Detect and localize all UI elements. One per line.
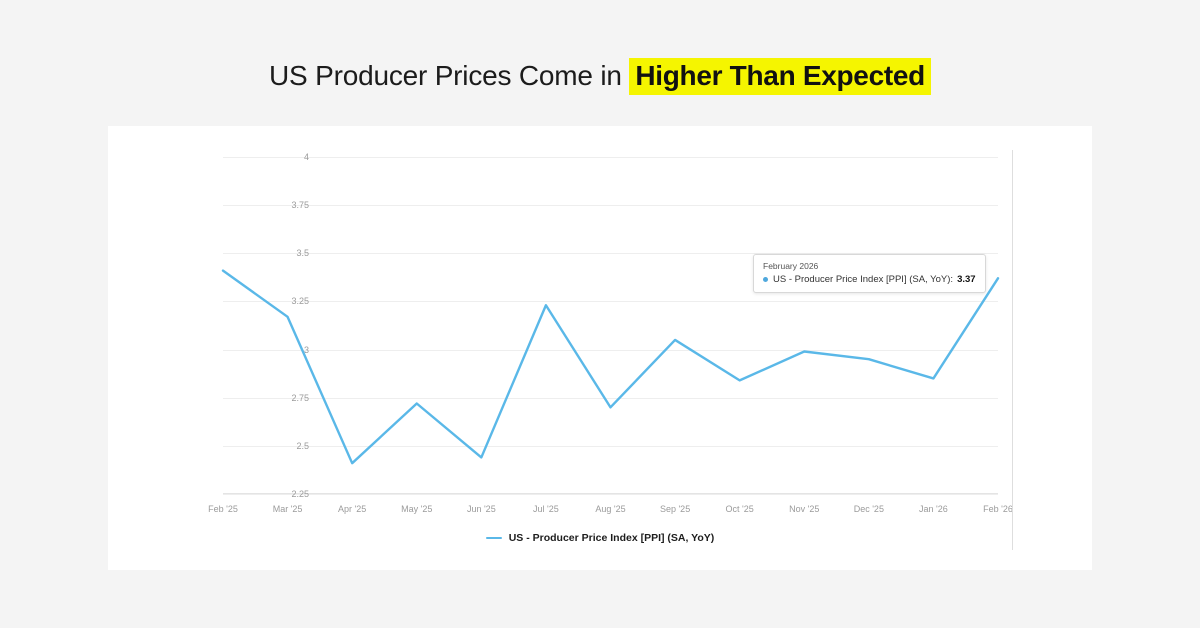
x-axis-tick-label: Dec '25 (854, 504, 884, 514)
page-title-plain: US Producer Prices Come in (269, 60, 629, 91)
y-axis-tick-label: 4 (249, 152, 309, 162)
legend-item-label: US - Producer Price Index [PPI] (SA, YoY… (509, 532, 715, 544)
y-axis-tick-label: 2.75 (249, 393, 309, 403)
x-axis-tick-label: Jul '25 (533, 504, 559, 514)
x-axis-tick-label: Sep '25 (660, 504, 690, 514)
x-axis-tick-label: Apr '25 (338, 504, 366, 514)
x-axis-tick-label: Nov '25 (789, 504, 819, 514)
page-root: US Producer Prices Come in Higher Than E… (0, 0, 1200, 628)
legend-swatch-icon (486, 537, 502, 539)
x-axis-tick-label: Oct '25 (726, 504, 754, 514)
y-axis-tick-label: 2.5 (249, 441, 309, 451)
crosshair-line (1012, 150, 1013, 550)
chart-legend: US - Producer Price Index [PPI] (SA, YoY… (108, 532, 1092, 544)
gridline (223, 494, 998, 495)
tooltip-marker-icon (763, 277, 768, 282)
x-axis-tick-label: Jun '25 (467, 504, 496, 514)
page-title: US Producer Prices Come in Higher Than E… (0, 60, 1200, 92)
plot-area (223, 157, 998, 494)
x-axis-tick-label: Feb '25 (208, 504, 238, 514)
chart-card: 43.753.53.2532.752.52.25 Feb '25Mar '25A… (108, 126, 1092, 570)
series-line-ppi (223, 157, 998, 494)
tooltip-date: February 2026 (763, 261, 976, 271)
x-axis-tick-label: Aug '25 (595, 504, 625, 514)
x-axis-tick-label: Mar '25 (273, 504, 303, 514)
y-axis-tick-label: 3.25 (249, 296, 309, 306)
line-chart: 43.753.53.2532.752.52.25 Feb '25Mar '25A… (108, 126, 1092, 570)
legend-item-ppi[interactable]: US - Producer Price Index [PPI] (SA, YoY… (486, 532, 715, 544)
tooltip-series-label: US - Producer Price Index [PPI] (SA, YoY… (773, 274, 953, 285)
y-axis-tick-label: 2.25 (249, 489, 309, 499)
y-axis-tick-label: 3 (249, 345, 309, 355)
chart-tooltip: February 2026 US - Producer Price Index … (753, 254, 986, 293)
x-axis-tick-label: May '25 (401, 504, 432, 514)
y-axis-tick-label: 3.75 (249, 200, 309, 210)
y-axis-tick-label: 3.5 (249, 248, 309, 258)
tooltip-series-row: US - Producer Price Index [PPI] (SA, YoY… (763, 274, 976, 285)
x-axis-tick-label: Jan '26 (919, 504, 948, 514)
tooltip-value: 3.37 (957, 274, 976, 285)
x-axis-tick-label: Feb '26 (983, 504, 1013, 514)
page-title-highlight: Higher Than Expected (629, 58, 931, 95)
series-path (223, 271, 998, 464)
